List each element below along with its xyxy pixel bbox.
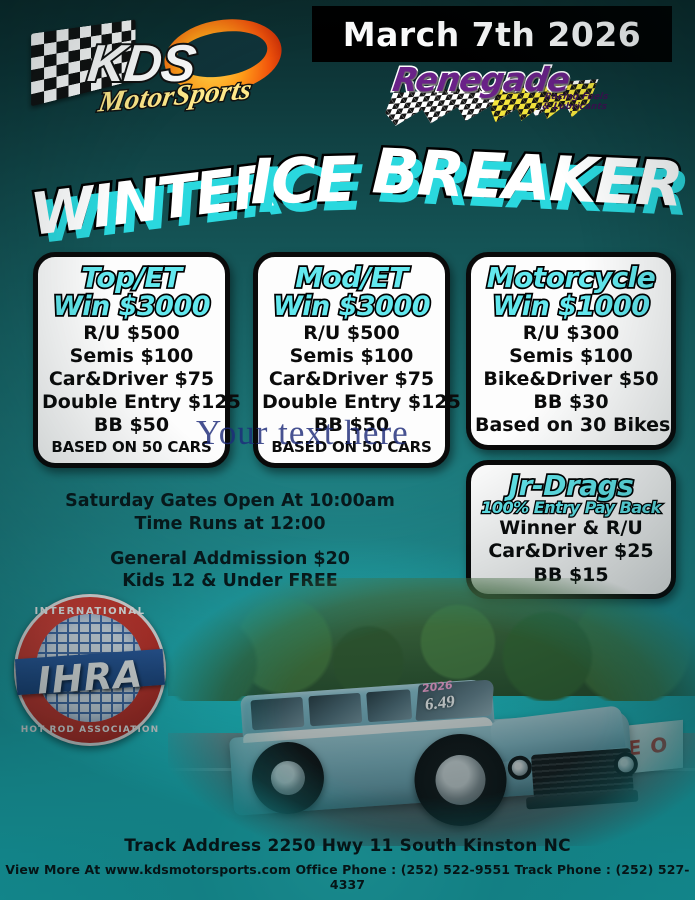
card-win-amount: Win $3000 [262, 293, 441, 321]
car-window [250, 697, 304, 731]
card-line: BB $30 [475, 391, 667, 414]
event-date-bar: March 7th 2026 [312, 6, 672, 62]
card-line: Car&Driver $25 [475, 540, 667, 563]
track-address: Track Address 2250 Hwy 11 South Kinston … [0, 836, 695, 856]
card-line: R/U $300 [475, 322, 667, 345]
event-flyer: KDS MotorSports March 7th 2026 Renegade … [0, 0, 695, 900]
car-window [366, 689, 412, 722]
footer: Track Address 2250 Hwy 11 South Kinston … [0, 836, 695, 892]
card-line: Double Entry $125 [262, 391, 441, 414]
drag-car: 2026 6.49 [225, 646, 636, 843]
card-title: Top/ET [42, 263, 221, 292]
card-line: Semis $100 [475, 345, 667, 368]
race-car-photo: HOME O 2026 6.49 [168, 578, 695, 846]
card-line: R/U $500 [262, 322, 441, 345]
card-line: BB $50 [42, 414, 221, 437]
card-basis: BASED ON 50 CARS [262, 438, 441, 456]
event-title: WINTER ICE BREAKER [0, 136, 695, 244]
card-line: Semis $100 [42, 345, 221, 368]
card-line: Winner & R/U [475, 517, 667, 540]
title-word-breaker: BREAKER [371, 134, 683, 220]
card-line: Double Entry $125 [42, 391, 221, 414]
card-line: Semis $100 [262, 345, 441, 368]
ihra-arc-bottom: HOT ROD ASSOCIATION [14, 725, 166, 735]
admission-text: General Addmission $20 [20, 548, 440, 571]
title-word-ice: ICE [249, 143, 356, 219]
wheel-rim [434, 753, 487, 806]
renegade-tagline: Racing Fuels & Lubricants [542, 92, 609, 112]
title-word-winter: WINTER [27, 151, 279, 248]
car-window [308, 693, 362, 727]
ihra-arc-top: INTERNATIONAL [14, 606, 166, 617]
time-runs-text: Time Runs at 12:00 [20, 513, 440, 536]
contact-info: View More At www.kdsmotorsports.com Offi… [0, 862, 695, 892]
card-win-amount: Win $3000 [42, 293, 221, 321]
card-line: Based on 30 Bikes [475, 414, 667, 437]
kds-motorsports-logo: KDS MotorSports [36, 14, 286, 124]
payout-card-mod-et: Mod/ET Win $3000 R/U $500 Semis $100 Car… [253, 252, 450, 468]
ihra-logo: INTERNATIONAL IHRA HOT ROD ASSOCIATION [14, 594, 166, 746]
card-line: R/U $500 [42, 322, 221, 345]
card-title: Mod/ET [262, 263, 441, 292]
card-line: Car&Driver $75 [262, 368, 441, 391]
card-title: Motorcycle [475, 263, 667, 292]
card-basis: BASED ON 50 CARS [42, 438, 221, 456]
card-line: Car&Driver $75 [42, 368, 221, 391]
windshield-number: 6.49 [425, 691, 455, 715]
card-win-amount: Win $1000 [475, 293, 667, 321]
card-title: Jr-Drags [475, 471, 667, 500]
card-line: BB $50 [262, 414, 441, 437]
renegade-sponsor-logo: Renegade Racing Fuels & Lubricants [385, 62, 610, 124]
renegade-tagline-line2: & Lubricants [542, 102, 608, 112]
wheel-rim [270, 760, 306, 796]
renegade-tagline-line1: Racing Fuels [543, 92, 609, 102]
gates-open-text: Saturday Gates Open At 10:00am [20, 490, 440, 513]
event-date: March 7th 2026 [343, 15, 642, 54]
spacer [20, 536, 440, 548]
payout-card-top-et: Top/ET Win $3000 R/U $500 Semis $100 Car… [33, 252, 230, 468]
card-line: Bike&Driver $50 [475, 368, 667, 391]
payout-card-motorcycle: Motorcycle Win $1000 R/U $300 Semis $100… [466, 252, 676, 450]
card-win-amount: 100% Entry Pay Back [475, 500, 667, 517]
